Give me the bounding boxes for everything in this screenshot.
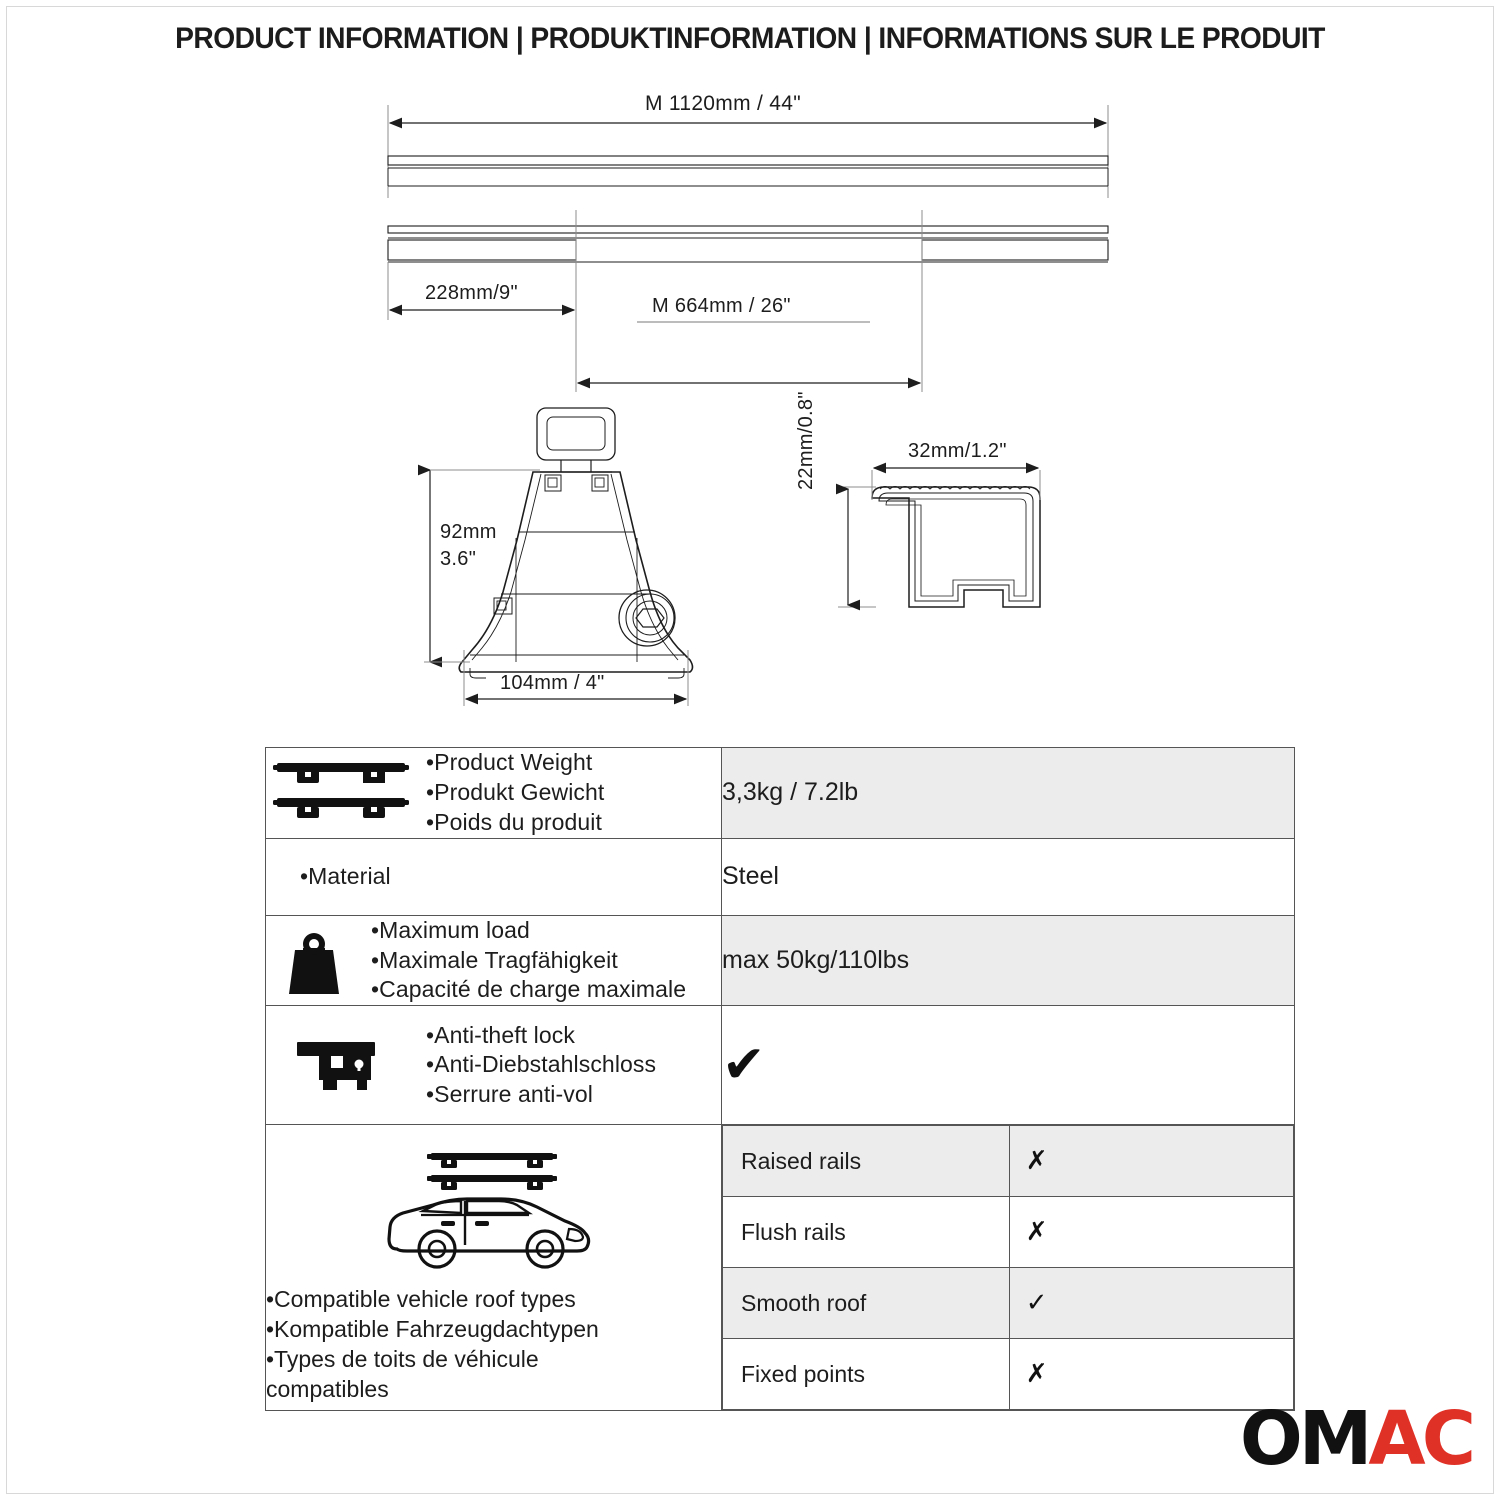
spec-label-cell-maxload: •Maximum load •Maximale Tragfähigkeit •C… [266,915,722,1006]
spec-label-cell-weight: •Product Weight •Produkt Gewicht •Poids … [266,748,722,839]
spec-labels-maxload: •Maximum load •Maximale Tragfähigkeit •C… [371,916,686,1006]
spec-label-fr: •Capacité de charge maximale [371,975,686,1005]
checkmark-icon: ✓ [1026,1288,1048,1318]
table-row: •Product Weight •Produkt Gewicht •Poids … [266,748,1295,839]
cross-icon: ✗ [1026,1359,1048,1389]
compat-name: Smooth roof [723,1268,1010,1339]
compat-label-en: •Compatible vehicle roof types [266,1285,721,1315]
spec-labels-material: •Material [266,862,721,892]
spec-value-material: Steel [722,838,1295,915]
spec-label-cell-lock: •Anti-theft lock •Anti-Diebstahlschloss … [266,1006,722,1125]
technical-drawing-area: M 1120mm / 44" 228mm/9" M 664mm / 26" 92… [0,0,1500,740]
compat-name: Fixed points [723,1339,1010,1410]
spec-label-de: •Maximale Tragfähigkeit [371,946,686,976]
compat-row-smooth-roof: Smooth roof ✓ [723,1268,1294,1339]
logo-text-ac: AC [1368,1396,1472,1482]
compat-row-raised-rails: Raised rails ✗ [723,1126,1294,1197]
car-with-roof-bars-icon [266,1137,721,1277]
spec-label-de: •Produkt Gewicht [426,778,604,808]
compat-mark: ✗ [1009,1126,1293,1197]
compat-name: Flush rails [723,1197,1010,1268]
compat-label-fr: •Types de toits de véhicule [266,1345,721,1375]
table-row: •Material Steel [266,838,1295,915]
cross-icon: ✗ [1026,1146,1048,1176]
logo-text-om: OM [1240,1396,1369,1482]
table-row: •Compatible vehicle roof types •Kompatib… [266,1125,1295,1411]
spec-label-fr: •Poids du produit [426,808,604,838]
compat-row-fixed-points: Fixed points ✗ [723,1339,1294,1410]
roof-bars-icon [266,756,416,830]
cross-icon: ✗ [1026,1217,1048,1247]
weight-icon [266,924,361,998]
spec-value-lock: ✔ [722,1006,1295,1125]
spec-value-maxload: max 50kg/110lbs [722,915,1295,1006]
product-spec-table: •Product Weight •Produkt Gewicht •Poids … [265,747,1295,1411]
spec-label-en: •Material [300,862,721,892]
spec-label-cell-material: •Material [266,838,722,915]
spec-label-de: •Anti-Diebstahlschloss [426,1050,656,1080]
table-row: •Anti-theft lock •Anti-Diebstahlschloss … [266,1006,1295,1125]
compat-labels: •Compatible vehicle roof types •Kompatib… [266,1285,721,1405]
compat-options-table: Raised rails ✗ Flush rails ✗ [722,1125,1294,1410]
spec-labels-weight: •Product Weight •Produkt Gewicht •Poids … [426,748,604,838]
table-row: •Maximum load •Maximale Tragfähigkeit •C… [266,915,1295,1006]
compat-mark: ✓ [1009,1268,1293,1339]
drawing-vectors [0,0,1500,740]
spec-label-en: •Anti-theft lock [426,1021,656,1051]
compat-mark: ✗ [1009,1197,1293,1268]
compat-label-fr-cont: compatibles [266,1375,721,1405]
compat-label-de: •Kompatible Fahrzeugdachtypen [266,1315,721,1345]
spec-label-en: •Product Weight [426,748,604,778]
spec-value-weight: 3,3kg / 7.2lb [722,748,1295,839]
compat-label-cell: •Compatible vehicle roof types •Kompatib… [266,1125,722,1411]
omac-logo: OMAC [1240,1402,1472,1476]
spec-label-en: •Maximum load [371,916,686,946]
spec-labels-lock: •Anti-theft lock •Anti-Diebstahlschloss … [426,1021,656,1111]
spec-label-fr: •Serrure anti-vol [426,1080,656,1110]
checkmark-icon: ✔ [722,1035,766,1095]
compat-options-cell: Raised rails ✗ Flush rails ✗ [722,1125,1295,1411]
lock-bar-icon [266,1034,416,1096]
compat-row-flush-rails: Flush rails ✗ [723,1197,1294,1268]
compat-name: Raised rails [723,1126,1010,1197]
